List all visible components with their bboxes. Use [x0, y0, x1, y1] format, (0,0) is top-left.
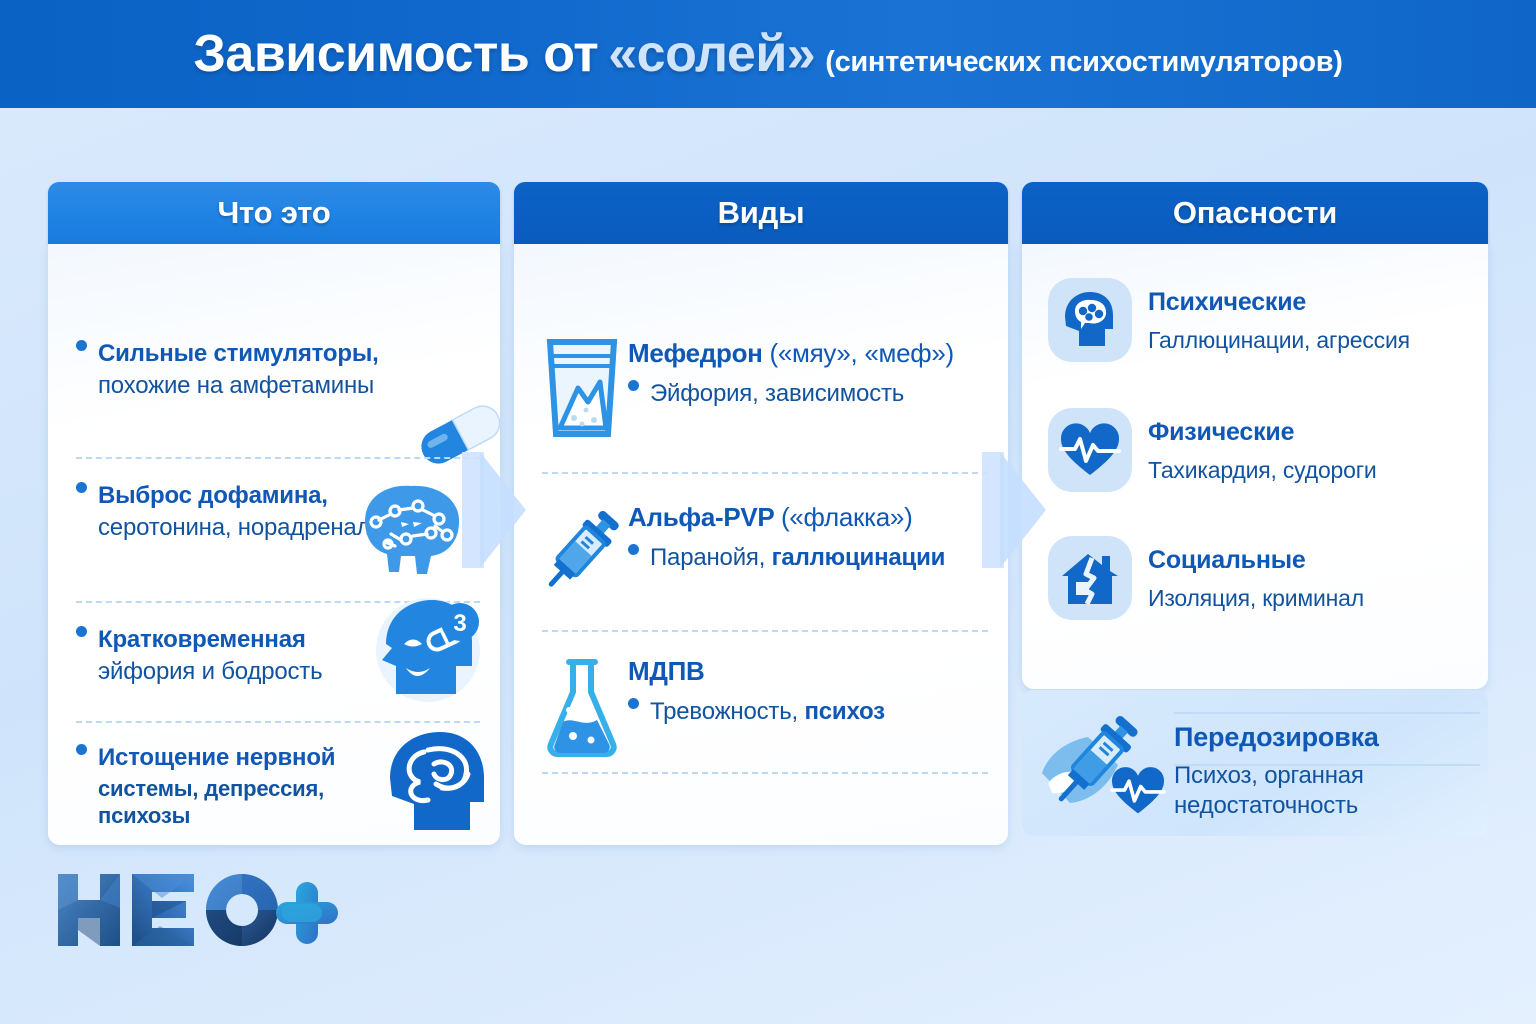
bullet-icon: [76, 340, 87, 351]
head-tangled-brain-icon: [376, 726, 496, 846]
page-title-main: Зависимость от: [193, 24, 598, 84]
bullet-icon: [76, 626, 87, 637]
head-brain-icon: [1059, 289, 1121, 351]
heart-pulse-icon-wrap: [1048, 408, 1132, 492]
overdose-title: Передозировка: [1174, 722, 1470, 753]
danger-title: Физические: [1148, 418, 1377, 447]
column-title-what-is-it: Что это: [217, 195, 330, 231]
flask-icon-wrap: [536, 650, 628, 760]
head-brain-icon-wrap: [1048, 278, 1132, 362]
overdose-icons: [1022, 703, 1174, 823]
broken-house-icon: [1058, 548, 1122, 608]
list-item[interactable]: Социальные Изоляция, криминал: [1048, 536, 1364, 620]
brand-logo[interactable]: [52, 868, 342, 957]
list-item[interactable]: Альфа-PVP («флакка») Паранойя, галлюцина…: [536, 496, 945, 600]
type-title: Мефедрон: [628, 338, 763, 368]
syringe-icon: [536, 500, 628, 600]
column-dangers: Опасности Психические Галлюцинации, агре…: [1022, 182, 1488, 689]
danger-title: Социальные: [1148, 546, 1364, 575]
page-header: Зависимость от «солей» (синтетических пс…: [0, 0, 1536, 108]
divider: [1174, 764, 1480, 766]
overdose-panel[interactable]: Передозировка Психоз, органная недостато…: [1022, 690, 1488, 836]
type-title-note: («мяу», «меф»): [770, 338, 954, 368]
powder-bag-icon: [538, 336, 626, 440]
overdose-desc-line2: недостаточность: [1174, 791, 1470, 820]
type-title: МДПВ: [628, 656, 704, 686]
happy-head-pill-icon: 3: [356, 590, 486, 714]
column-body-what-is-it: Сильные стимуляторы, похожие на амфетами…: [48, 244, 500, 845]
syringe-icon-wrap: [536, 496, 628, 600]
neo-plus-logo-icon: [52, 868, 342, 952]
list-item[interactable]: Сильные стимуляторы, похожие на амфетами…: [76, 340, 406, 401]
item-line2: эйфория и бодрость: [98, 658, 322, 685]
item-line1: Истощение нервной: [98, 744, 335, 772]
heart-pulse-icon: [1059, 421, 1121, 479]
divider: [76, 721, 480, 723]
item-line2: системы, депрессия, психозы: [98, 776, 324, 827]
type-title: Альфа-PVP: [628, 502, 774, 532]
arrow-connector-2-icon: [1000, 452, 1046, 568]
flask-icon: [539, 654, 625, 760]
divider: [542, 772, 988, 774]
divider: [76, 457, 480, 459]
danger-title: Психические: [1148, 288, 1410, 317]
column-header-dangers: Опасности: [1022, 182, 1488, 244]
heart-pulse-icon: [1110, 765, 1166, 817]
divider: [542, 472, 988, 474]
column-types: Виды Мефедрон («мяу», «меф») Эйфория, за…: [514, 182, 1008, 845]
column-body-dangers: Психические Галлюцинации, агрессия Физич…: [1022, 244, 1488, 689]
svg-text:3: 3: [453, 610, 466, 637]
list-item[interactable]: Психические Галлюцинации, агрессия: [1048, 278, 1410, 362]
column-what-is-it: Что это Сильные стимуляторы, похожие на …: [48, 182, 500, 845]
page-title-quoted: «солей»: [608, 24, 815, 84]
bullet-icon: [76, 482, 87, 493]
bullet-icon: [76, 744, 87, 755]
brain-neurotransmitter-icon: [343, 476, 473, 586]
list-item[interactable]: Физические Тахикардия, судороги: [1048, 408, 1377, 492]
danger-desc: Галлюцинации, агрессия: [1148, 327, 1410, 354]
page-title-subtitle: (синтетических психостимуляторов): [825, 46, 1342, 79]
list-item[interactable]: Мефедрон («мяу», «меф») Эйфория, зависим…: [536, 332, 954, 440]
column-title-dangers: Опасности: [1173, 195, 1337, 231]
broken-house-icon-wrap: [1048, 536, 1132, 620]
danger-desc: Изоляция, криминал: [1148, 585, 1364, 612]
bullet-icon: [628, 698, 639, 709]
divider: [542, 630, 988, 632]
bullet-icon: [628, 380, 639, 391]
type-effect: Тревожность,: [650, 698, 804, 725]
list-item[interactable]: Истощение нервной системы, депрессия, пс…: [76, 744, 396, 829]
column-header-what-is-it: Что это: [48, 182, 500, 244]
item-line1: Сильные стимуляторы,: [98, 340, 379, 368]
type-title-note: («флакка»): [781, 502, 912, 532]
column-body-types: Мефедрон («мяу», «меф») Эйфория, зависим…: [514, 244, 1008, 845]
arrow-connector-1-icon: [480, 452, 526, 568]
type-effect: Эйфория, зависимость: [650, 380, 904, 407]
powder-bag-icon-wrap: [536, 332, 628, 440]
divider: [1174, 712, 1480, 714]
bullet-icon: [628, 544, 639, 555]
column-header-types: Виды: [514, 182, 1008, 244]
list-item[interactable]: Кратковременная эйфория и бодрость: [76, 626, 376, 687]
item-line2: похожие на амфетамины: [98, 372, 374, 399]
column-title-types: Виды: [718, 195, 805, 231]
item-line1: Кратковременная: [98, 626, 306, 654]
list-item[interactable]: МДПВ Тревожность, психоз: [536, 650, 885, 760]
type-effect-emphasis: галлюцинации: [772, 544, 946, 571]
item-line1: Выброс дофамина,: [98, 482, 328, 510]
type-effect-emphasis: психоз: [804, 698, 884, 725]
danger-desc: Тахикардия, судороги: [1148, 457, 1377, 484]
type-effect: Паранойя,: [650, 544, 772, 571]
